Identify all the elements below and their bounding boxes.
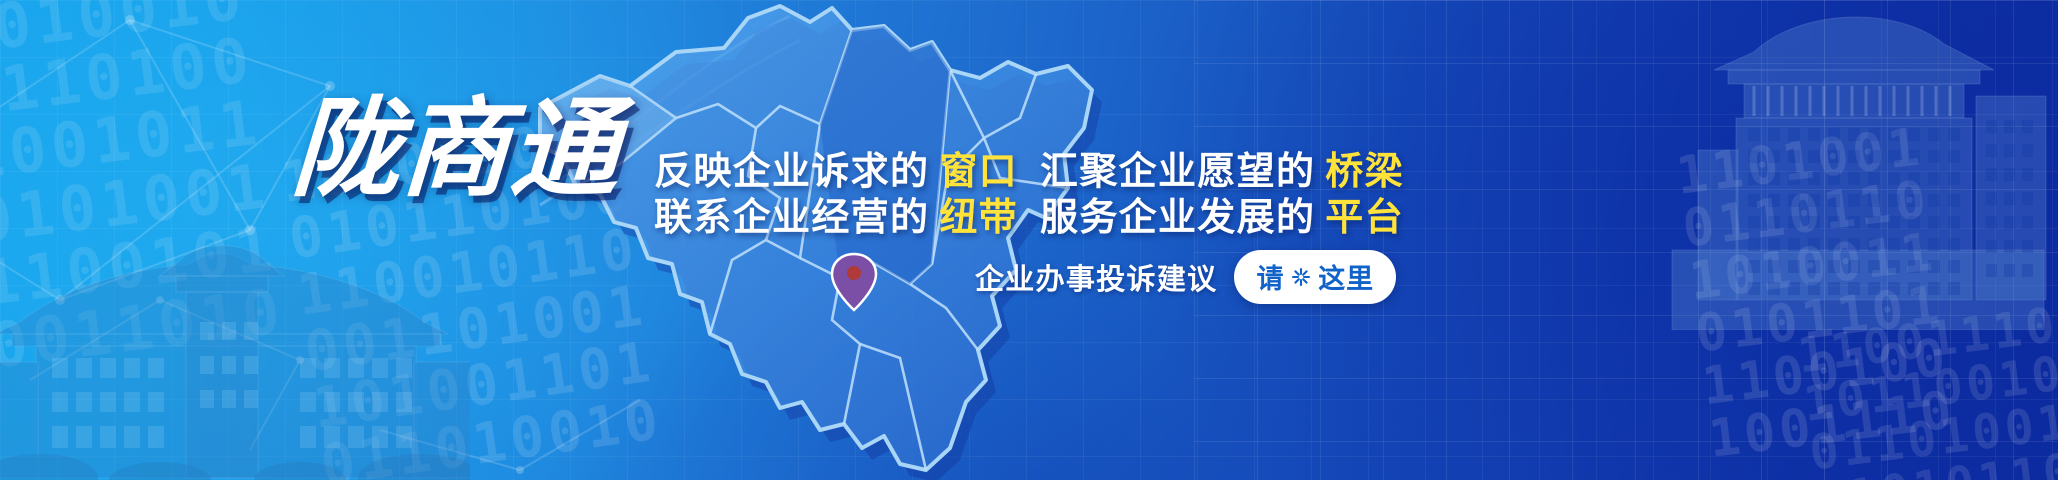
tagline-2-part-2: 服务企业发展的 <box>1040 195 1315 239</box>
tagline-1-part-1: 反映企业诉求的 <box>654 149 929 193</box>
tagline-line-1: 反映企业诉求的窗口汇聚企业愿望的桥梁 <box>654 152 1404 190</box>
cta-row: 企业办事投诉建议 请 <box>975 250 1396 304</box>
banner-content: 陇商通 反映企业诉求的窗口汇聚企业愿望的桥梁 联系企业经营的纽带服务企业发展的平… <box>0 0 2058 480</box>
tagline-1-highlight-2: 桥梁 <box>1325 149 1404 193</box>
promo-banner: 1010010 0110100 1001011 0101001 1100101 … <box>0 0 2058 480</box>
sparkle-click-icon <box>1288 264 1314 290</box>
brand-title: 陇商通 <box>289 96 623 204</box>
cta-label: 企业办事投诉建议 <box>975 256 1217 298</box>
tagline-2-highlight-2: 平台 <box>1325 195 1404 239</box>
tagline-2-highlight-1: 纽带 <box>939 195 1018 239</box>
tagline-1-part-2: 汇聚企业愿望的 <box>1040 149 1315 193</box>
tagline-1-highlight-1: 窗口 <box>939 149 1018 193</box>
click-here-button[interactable]: 请 这里 <box>1234 250 1395 304</box>
click-here-suffix: 这里 <box>1318 257 1374 296</box>
tagline-2-part-1: 联系企业经营的 <box>654 195 929 239</box>
tagline-line-2: 联系企业经营的纽带服务企业发展的平台 <box>654 198 1404 236</box>
click-here-prefix: 请 <box>1256 257 1284 296</box>
